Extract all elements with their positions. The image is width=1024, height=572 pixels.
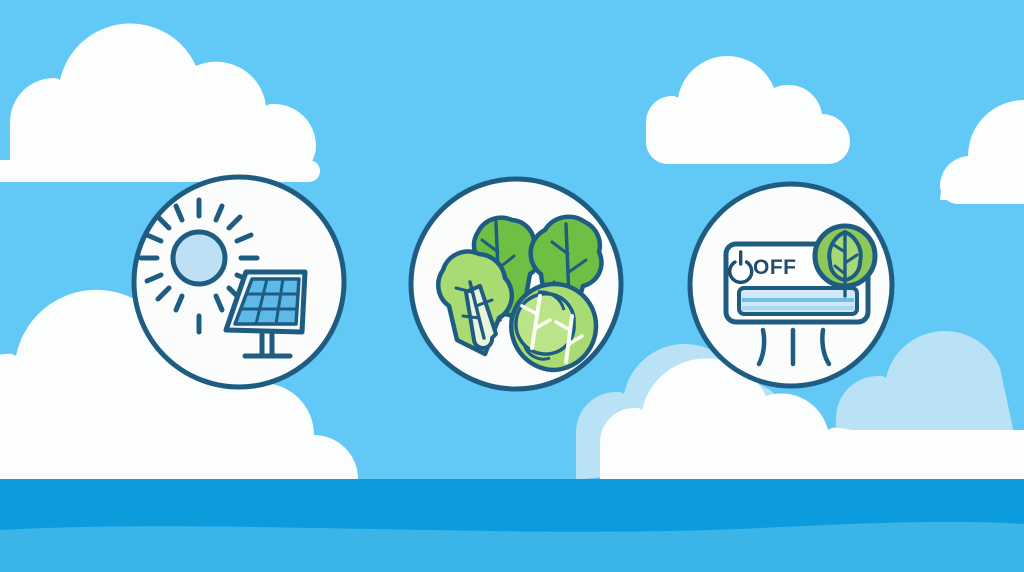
badge-circle-solar: [134, 177, 344, 387]
water-band: [0, 479, 1024, 572]
illustration-scene: OFF: [0, 0, 1024, 572]
scene-canvas: OFF: [0, 0, 1024, 572]
leafy-greens-badge[interactable]: [411, 179, 621, 389]
solar-panel-badge[interactable]: [134, 177, 344, 387]
air-conditioner-off-badge[interactable]: OFF: [690, 184, 892, 386]
cabbage-icon: [511, 284, 596, 370]
power-state-label: OFF: [753, 256, 797, 279]
